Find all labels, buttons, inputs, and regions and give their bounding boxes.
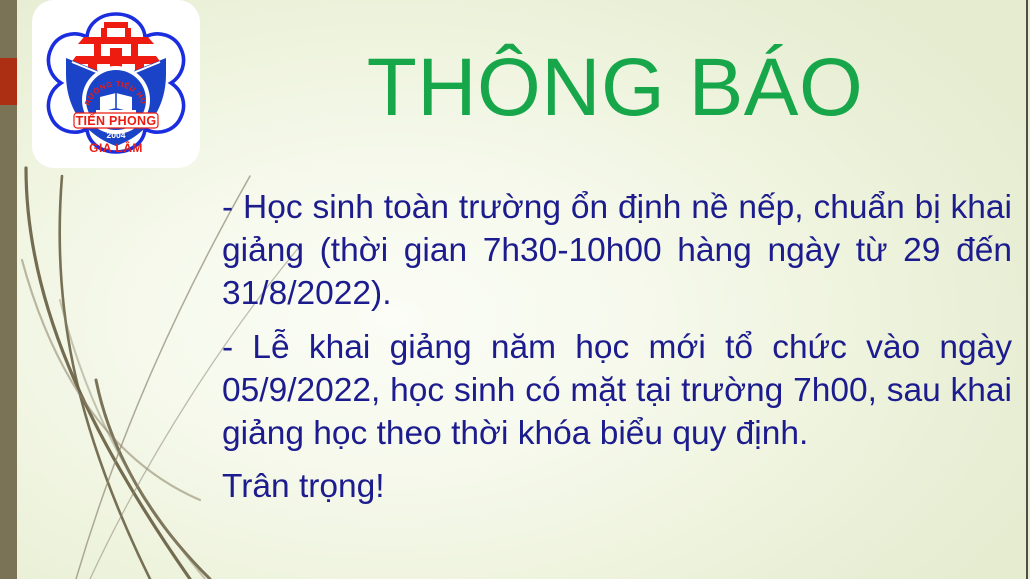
left-accent-block: [0, 58, 17, 105]
logo-school-name: TIẾN PHONG: [76, 113, 157, 128]
paragraph-schedule: - Học sinh toàn trường ổn định nề nếp, c…: [222, 186, 1012, 316]
announcement-body: - Học sinh toàn trường ổn định nề nếp, c…: [222, 186, 1012, 508]
right-edge-rule: [1026, 0, 1028, 579]
logo-tile: TRƯỜNG TIỂU HỌC TIẾN PHONG 2004 GIA LÂM: [32, 0, 200, 168]
paragraph-closing: Trân trọng!: [222, 465, 1012, 508]
paragraph-opening-ceremony: - Lễ khai giảng năm học mới tổ chức vào …: [222, 326, 1012, 456]
logo-year: 2004: [107, 130, 126, 140]
logo-district: GIA LÂM: [89, 140, 143, 155]
slide-canvas: TRƯỜNG TIỂU HỌC TIẾN PHONG 2004 GIA LÂM …: [0, 0, 1030, 579]
page-title: THÔNG BÁO: [215, 46, 1015, 130]
school-logo-icon: TRƯỜNG TIỂU HỌC TIẾN PHONG 2004 GIA LÂM: [32, 0, 200, 168]
